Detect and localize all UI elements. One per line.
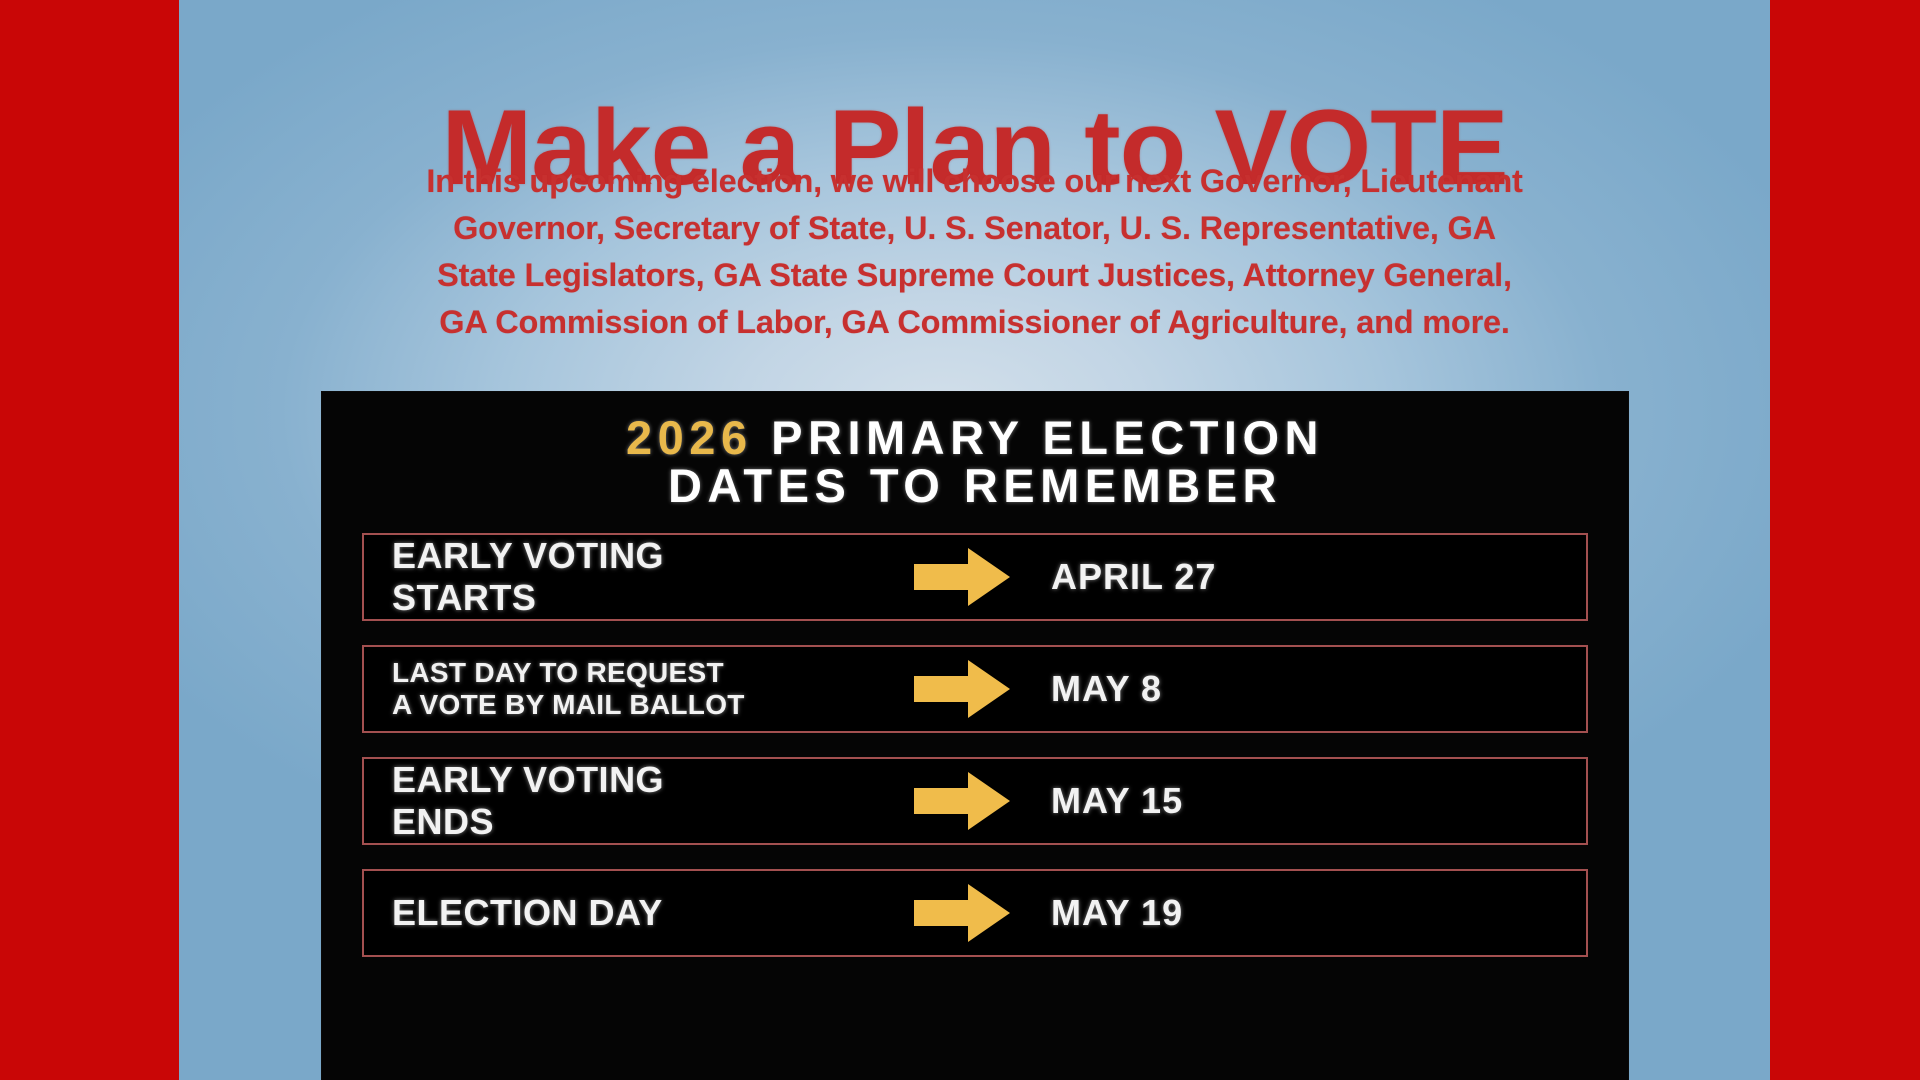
right-arrow-icon (897, 658, 1027, 720)
date-rows-list: EARLY VOTINGSTARTSAPRIL 27LAST DAY TO RE… (322, 533, 1628, 957)
date-row-label-line: EARLY VOTING (392, 759, 897, 800)
date-row-label: EARLY VOTINGENDS (364, 759, 897, 842)
date-row-label: LAST DAY TO REQUESTA VOTE BY MAIL BALLOT (364, 657, 897, 721)
date-row-value: MAY 19 (1027, 892, 1586, 934)
date-row-value: MAY 8 (1027, 668, 1586, 710)
election-offices-paragraph: In this upcoming election, we will choos… (189, 158, 1760, 347)
blurb-line: GA Commission of Labor, GA Commissioner … (189, 299, 1760, 346)
poster-heading-line2: DATES TO REMEMBER (338, 462, 1612, 510)
blurb-line: State Legislators, GA State Supreme Cour… (189, 252, 1760, 299)
date-row: EARLY VOTINGENDSMAY 15 (362, 757, 1588, 845)
date-row-label-line: A VOTE BY MAIL BALLOT (392, 689, 897, 721)
date-row-value: MAY 15 (1027, 780, 1586, 822)
slide-content-area: Make a Plan to VOTE In this upcoming ele… (179, 0, 1770, 1080)
date-row-value: APRIL 27 (1027, 556, 1586, 598)
date-row: LAST DAY TO REQUESTA VOTE BY MAIL BALLOT… (362, 645, 1588, 733)
blurb-line: In this upcoming election, we will choos… (189, 158, 1760, 205)
date-row-label: EARLY VOTINGSTARTS (364, 535, 897, 618)
key-dates-poster: 2026 PRIMARY ELECTION DATES TO REMEMBER … (322, 392, 1628, 1080)
date-row-label-line: ENDS (392, 801, 897, 842)
date-row-label-line: LAST DAY TO REQUEST (392, 657, 897, 689)
right-arrow-icon (897, 546, 1027, 608)
poster-heading: 2026 PRIMARY ELECTION DATES TO REMEMBER (322, 392, 1628, 511)
right-arrow-icon (897, 882, 1027, 944)
date-row-label-line: ELECTION DAY (392, 892, 897, 933)
slide-canvas: Make a Plan to VOTE In this upcoming ele… (0, 0, 1920, 1080)
date-row-label-line: STARTS (392, 577, 897, 618)
date-row-label-line: EARLY VOTING (392, 535, 897, 576)
left-red-border-bar (0, 0, 179, 1080)
date-row: EARLY VOTINGSTARTSAPRIL 27 (362, 533, 1588, 621)
date-row: ELECTION DAYMAY 19 (362, 869, 1588, 957)
poster-year: 2026 (626, 411, 753, 464)
date-row-label: ELECTION DAY (364, 892, 897, 933)
poster-heading-line1: PRIMARY ELECTION (753, 411, 1324, 464)
blurb-line: Governor, Secretary of State, U. S. Sena… (189, 205, 1760, 252)
right-arrow-icon (897, 770, 1027, 832)
right-red-border-bar (1770, 0, 1920, 1080)
